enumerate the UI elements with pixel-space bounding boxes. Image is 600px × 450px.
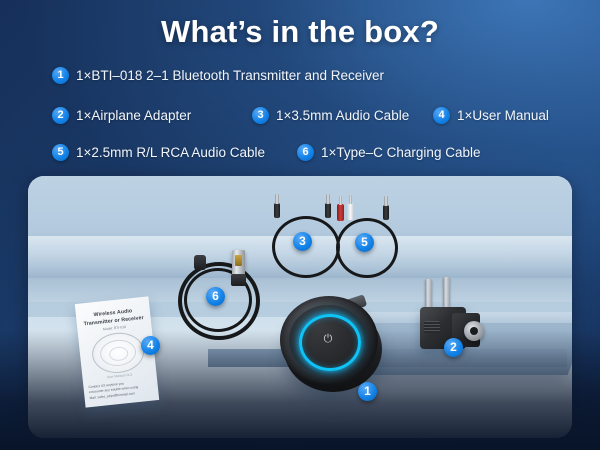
legend-item-4: 4 1×User Manual [433, 107, 549, 124]
rca-cable-jack [383, 205, 389, 220]
legend-row-2: 2 1×Airplane Adapter 3 1×3.5mm Audio Cab… [0, 102, 600, 138]
legend-item-2: 2 1×Airplane Adapter [52, 107, 191, 124]
photo-badge-2: 2 [444, 338, 463, 357]
photo-platform-front [208, 349, 567, 367]
legend: 1 1×BTI–018 2–1 Bluetooth Transmitter an… [0, 66, 600, 174]
legend-item-6: 6 1×Type–C Charging Cable [297, 144, 480, 161]
usb-a-connector [232, 250, 245, 276]
type-c-connector [194, 255, 206, 270]
photo-badge-6: 6 [206, 287, 225, 306]
legend-item-3: 3 1×3.5mm Audio Cable [252, 107, 409, 124]
rca-tip-white [349, 195, 352, 204]
legend-label-2: 1×Airplane Adapter [76, 108, 191, 123]
legend-label-5: 1×2.5mm R/L RCA Audio Cable [76, 145, 265, 160]
legend-item-5: 5 1×2.5mm R/L RCA Audio Cable [52, 144, 265, 161]
audio-cable-plug-right [325, 203, 331, 218]
legend-badge-1: 1 [52, 67, 69, 84]
legend-label-4: 1×User Manual [457, 108, 549, 123]
legend-item-1: 1 1×BTI–018 2–1 Bluetooth Transmitter an… [52, 67, 384, 84]
adapter-pin-left [425, 279, 432, 309]
legend-label-1: 1×BTI–018 2–1 Bluetooth Transmitter and … [76, 68, 384, 83]
audio-jack-right [325, 203, 331, 218]
adapter-grill [424, 321, 440, 333]
legend-badge-3: 3 [252, 107, 269, 124]
audio-jack-left [274, 203, 280, 218]
legend-badge-5: 5 [52, 144, 69, 161]
legend-label-6: 1×Type–C Charging Cable [321, 145, 480, 160]
rca-plug-red [337, 204, 344, 221]
audio-cable-plug-left [274, 203, 280, 218]
power-icon: ⏻ [322, 333, 334, 345]
audio-jack-tip-left [275, 194, 279, 204]
manual-product-figure [90, 330, 146, 375]
legend-row-1: 1 1×BTI–018 2–1 Bluetooth Transmitter an… [0, 66, 600, 102]
rca-jack-tip [384, 196, 388, 206]
adapter-jack-socket [464, 321, 484, 341]
photo-badge-3: 3 [293, 232, 312, 251]
whats-in-the-box-poster: What’s in the box? 1 1×BTI–018 2–1 Bluet… [0, 0, 600, 450]
adapter-pin-right [443, 277, 450, 307]
photo-badge-1: 1 [358, 382, 377, 401]
legend-badge-6: 6 [297, 144, 314, 161]
usb-a-hood [231, 274, 246, 286]
legend-badge-2: 2 [52, 107, 69, 124]
page-title: What’s in the box? [0, 14, 600, 50]
legend-row-3: 5 1×2.5mm R/L RCA Audio Cable 6 1×Type–C… [0, 138, 600, 174]
rca-plug-white [347, 203, 354, 220]
rca-tip-red [339, 196, 342, 205]
photo-badge-4: 4 [141, 336, 160, 355]
photo-badge-5: 5 [355, 233, 374, 252]
legend-badge-4: 4 [433, 107, 450, 124]
legend-label-3: 1×3.5mm Audio Cable [276, 108, 409, 123]
audio-jack-tip-right [326, 194, 330, 204]
rca-jack-body [383, 205, 389, 220]
manual-footer: Contact US anytime you encounter any tro… [88, 379, 153, 401]
